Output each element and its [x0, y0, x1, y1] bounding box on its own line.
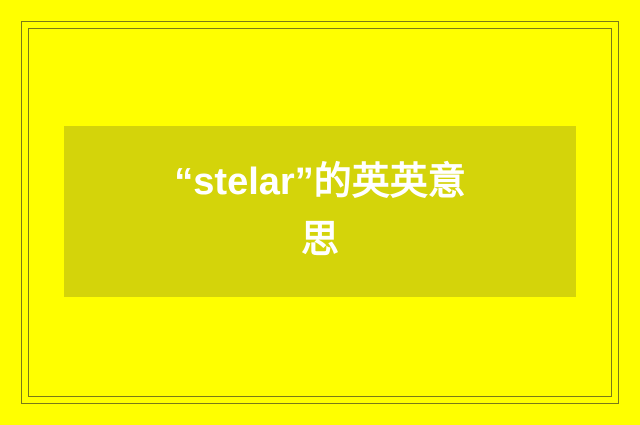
title-panel: “stelar”的英英意思	[64, 126, 576, 297]
poster-canvas: “stelar”的英英意思	[0, 0, 640, 425]
page-title: “stelar”的英英意思	[170, 154, 470, 270]
